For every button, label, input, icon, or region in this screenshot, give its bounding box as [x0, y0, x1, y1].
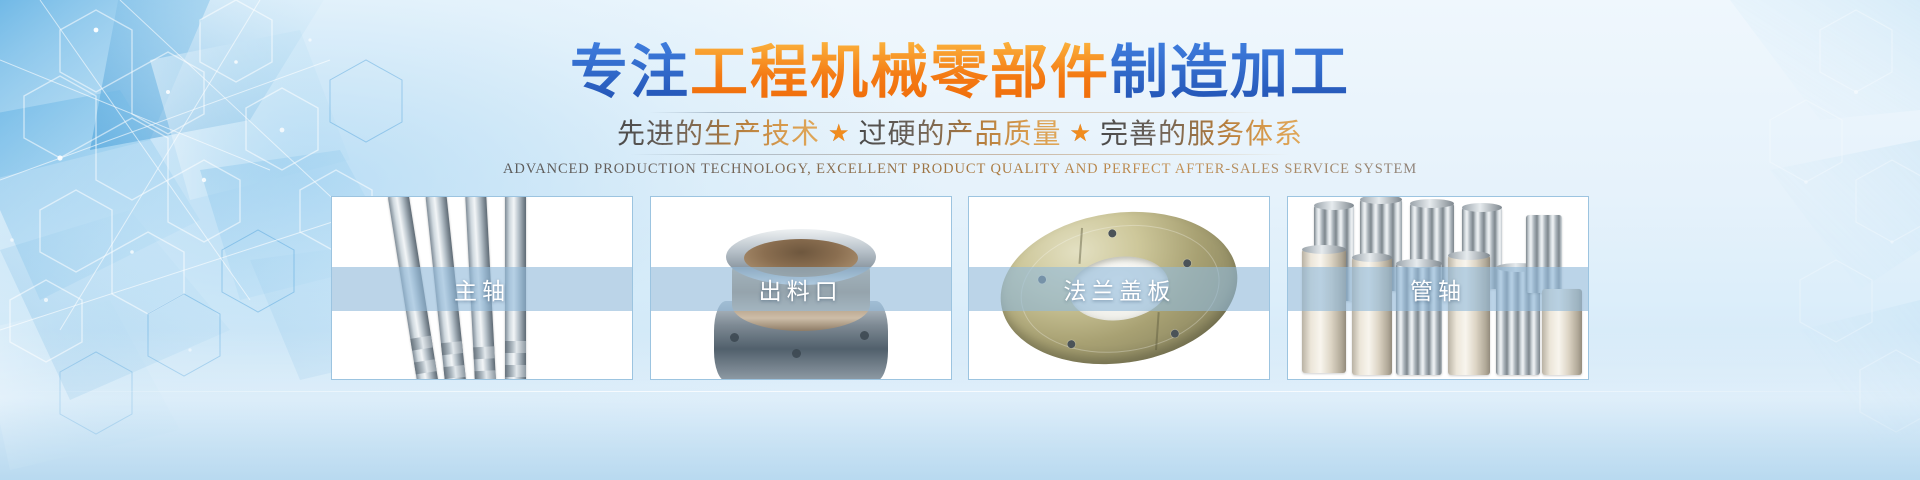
headline-part-1: 专注 — [570, 42, 690, 104]
product-card-label: 出料口 — [651, 267, 951, 311]
headline-row: 专注工程机械零部件制造加工 — [0, 42, 1920, 104]
star-icon-2: ★ — [1070, 116, 1093, 152]
product-card-pipe-shaft[interactable]: 管轴 — [1287, 196, 1589, 380]
english-caption: ADVANCED PRODUCTION TECHNOLOGY, EXCELLEN… — [503, 161, 1417, 178]
divider-top — [649, 112, 1271, 113]
product-card-label: 法兰盖板 — [969, 267, 1269, 311]
product-card-discharge-port[interactable]: 出料口 — [650, 196, 952, 380]
subtitle-item-3: 完善的服务体系 — [1100, 117, 1303, 153]
product-card-flange-cover[interactable]: 法兰盖板 — [968, 196, 1270, 380]
star-icon-1: ★ — [828, 116, 851, 152]
product-card-label: 主轴 — [332, 267, 632, 311]
headline-part-2: 工程机械零部件 — [690, 42, 1110, 104]
headline-part-3: 制造加工 — [1110, 42, 1350, 104]
english-caption-row: ADVANCED PRODUCTION TECHNOLOGY, EXCELLEN… — [0, 160, 1920, 178]
product-card-list: 主轴 出料口 — [331, 196, 1589, 380]
subtitle-row: 先进的生产技术★过硬的产品质量★完善的服务体系 — [0, 116, 1920, 153]
product-card-label: 管轴 — [1288, 267, 1588, 311]
subtitle-item-1: 先进的生产技术 — [617, 117, 820, 153]
promo-banner: 专注工程机械零部件制造加工 先进的生产技术★过硬的产品质量★完善的服务体系 AD… — [0, 0, 1920, 480]
divider-bottom — [630, 154, 1290, 155]
subtitle-item-2: 过硬的产品质量 — [858, 117, 1061, 153]
banner-content: 专注工程机械零部件制造加工 先进的生产技术★过硬的产品质量★完善的服务体系 AD… — [0, 0, 1920, 480]
product-card-main-shaft[interactable]: 主轴 — [331, 196, 633, 380]
